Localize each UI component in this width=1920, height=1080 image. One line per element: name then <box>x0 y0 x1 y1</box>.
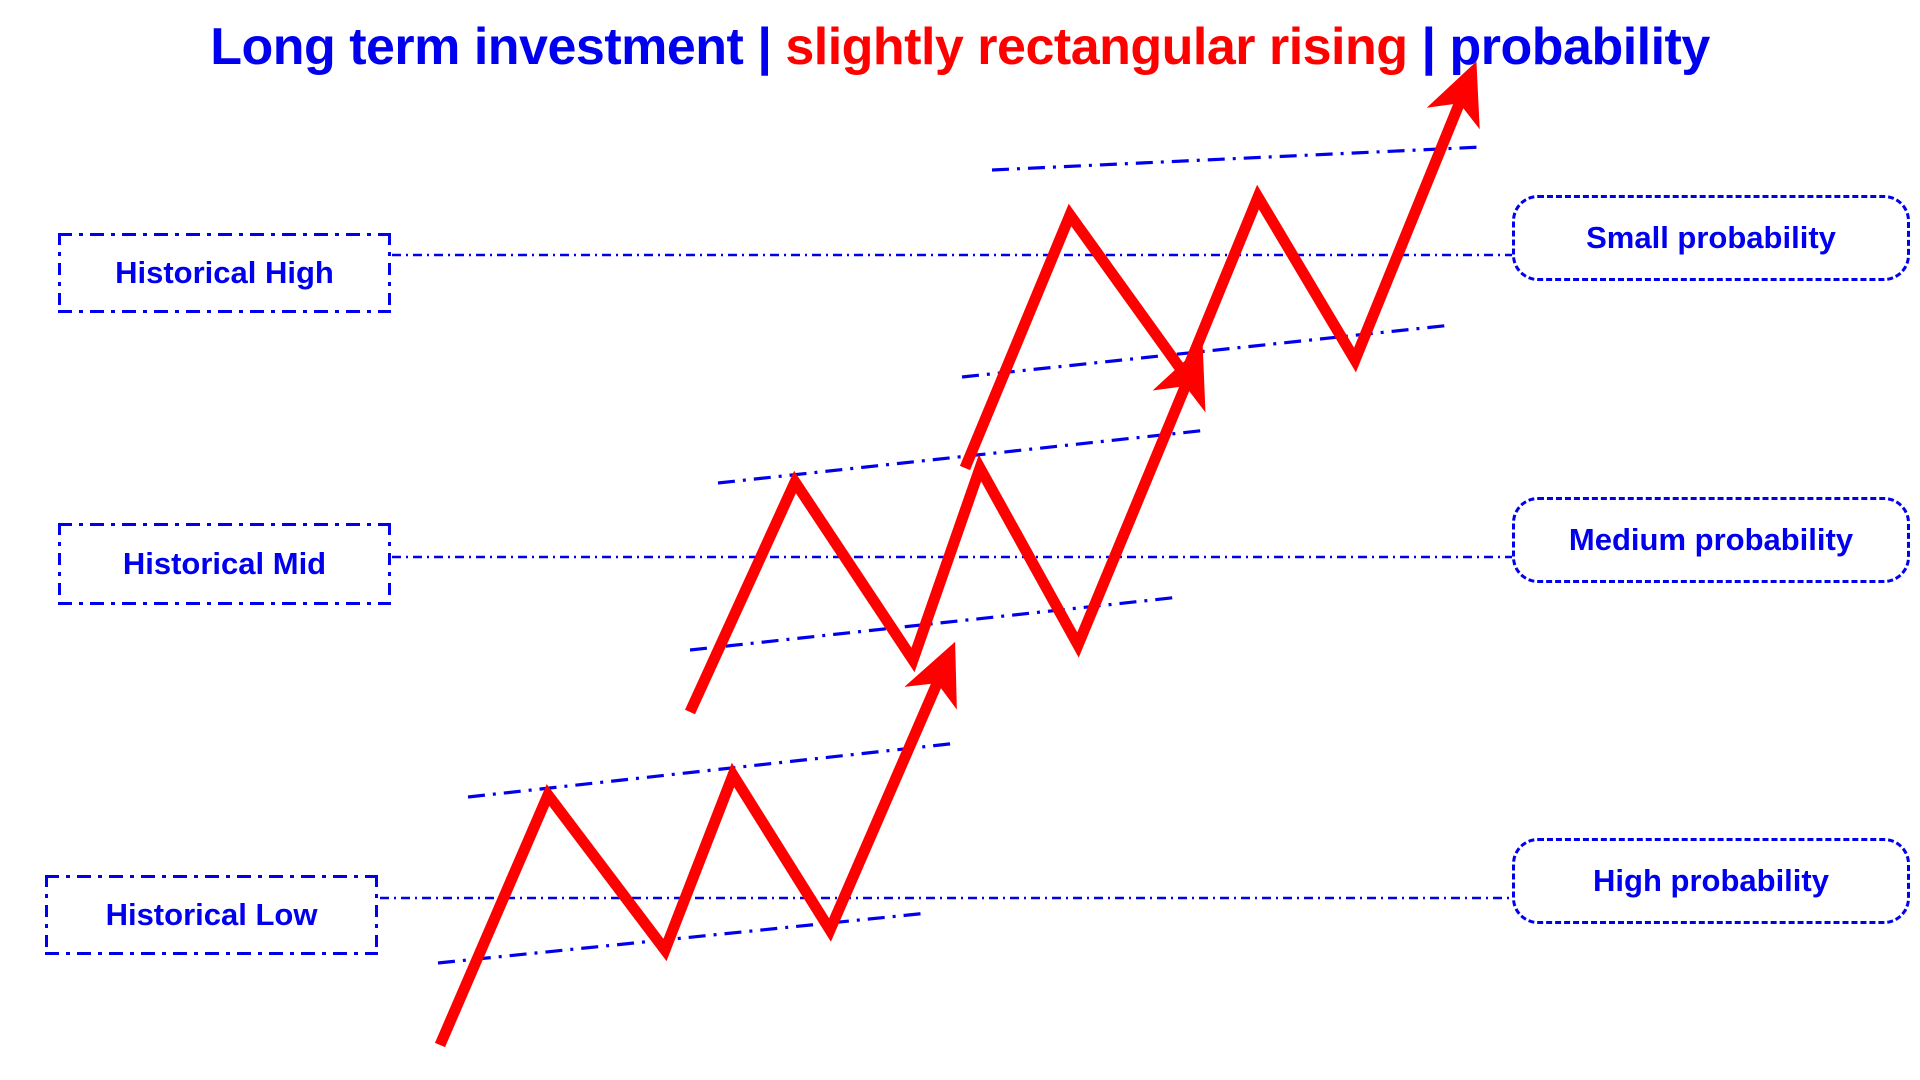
stage-3-upper-trendline <box>992 147 1482 170</box>
slide-canvas: Long term investment | slightly rectangu… <box>0 0 1920 1080</box>
label-historical-low-text: Historical Low <box>106 897 318 933</box>
price-zigzag-series <box>440 92 1464 1045</box>
label-historical-high-text: Historical High <box>115 255 334 291</box>
label-historical-high[interactable]: Historical High <box>58 233 391 313</box>
label-high-probability[interactable]: High probability <box>1512 838 1910 924</box>
stage-2-upper-trendline <box>718 430 1208 483</box>
label-historical-low[interactable]: Historical Low <box>45 875 378 955</box>
label-medium-probability[interactable]: Medium probability <box>1512 497 1910 583</box>
stage-1-low-band <box>440 672 942 1045</box>
stage-3-high-band <box>965 92 1464 468</box>
stage-2-mid-band <box>690 375 1190 712</box>
label-medium-probability-text: Medium probability <box>1569 522 1853 558</box>
stage-1-upper-trendline <box>468 743 958 797</box>
stage-1-lower-trendline <box>438 913 928 963</box>
label-historical-mid[interactable]: Historical Mid <box>58 523 391 605</box>
label-small-probability[interactable]: Small probability <box>1512 195 1910 281</box>
trend-channel-lines <box>438 147 1482 963</box>
label-high-probability-text: High probability <box>1593 863 1829 899</box>
label-historical-mid-text: Historical Mid <box>123 546 326 582</box>
label-small-probability-text: Small probability <box>1586 220 1836 256</box>
